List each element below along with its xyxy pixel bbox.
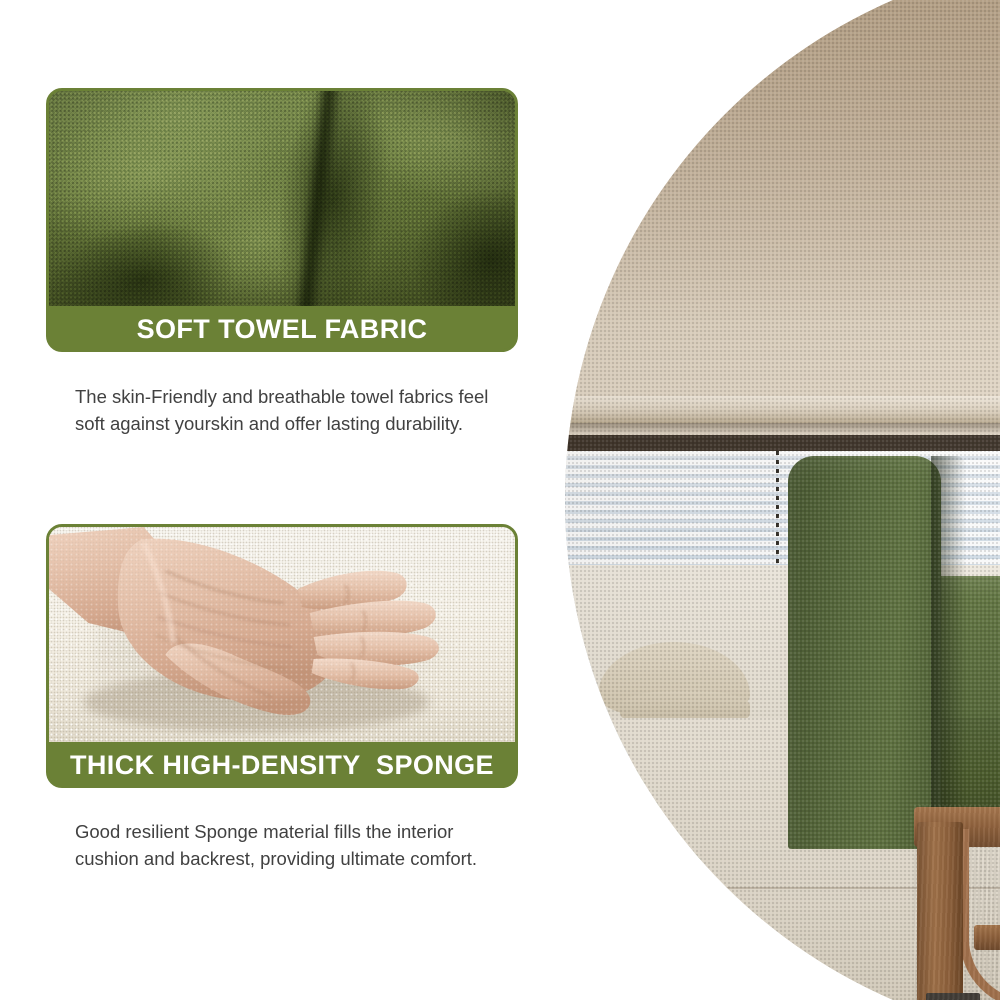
feature-description-2: Good resilient Sponge material fills the… (75, 818, 505, 872)
chair-armrest (788, 456, 941, 848)
feature-title-2: THICK HIGH-DENSITY SPONGE (70, 750, 494, 781)
sponge-photo (49, 527, 515, 742)
feature-label-bar-1: SOFT TOWEL FABRIC (49, 306, 515, 352)
feature-label-bar-2: THICK HIGH-DENSITY SPONGE (49, 742, 515, 788)
features-column: SOFT TOWEL FABRIC The skin-Friendly and … (0, 0, 540, 1000)
fabric-scene (49, 91, 515, 306)
feature-description-1: The skin-Friendly and breathable towel f… (75, 383, 505, 437)
product-infographic: SOFT TOWEL FABRIC The skin-Friendly and … (0, 0, 1000, 1000)
wood-front-leg (917, 822, 963, 1000)
accent-chair (565, 0, 1000, 1000)
feature-title-1: SOFT TOWEL FABRIC (137, 314, 428, 345)
product-photo-circle (565, 0, 1000, 1000)
wood-lower-stretcher (974, 925, 1000, 950)
foam-grain-overlay (49, 527, 515, 742)
feature-card-soft-towel-fabric: SOFT TOWEL FABRIC (46, 88, 518, 352)
room-scene (565, 0, 1000, 1000)
chair-floor-shadow (892, 991, 1000, 1000)
sponge-scene (49, 527, 515, 742)
fabric-vignette (49, 91, 515, 306)
feature-card-high-density-sponge: THICK HIGH-DENSITY SPONGE (46, 524, 518, 788)
chair-armrest-shadow (931, 456, 966, 848)
fabric-photo (49, 91, 515, 306)
